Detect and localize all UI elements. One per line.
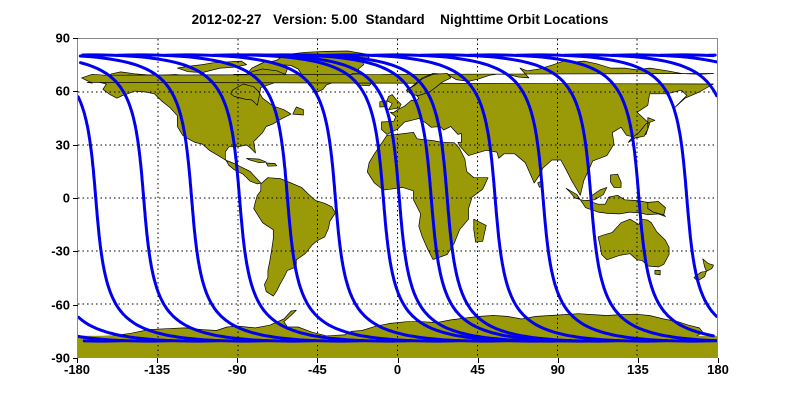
y-tick-mark <box>73 198 78 199</box>
x-tick-mark <box>478 358 479 363</box>
x-tick-label: 135 <box>627 362 649 377</box>
x-tick-label: -180 <box>64 362 90 377</box>
map-plot-area <box>77 38 718 358</box>
x-tick-mark <box>558 358 559 363</box>
orbit-locations-figure: 2012-02-27 Version: 5.00 Standard Nightt… <box>0 0 800 400</box>
landmass-tasmania <box>655 270 660 275</box>
landmass-madagascar <box>474 219 486 242</box>
x-tick-label: -45 <box>308 362 327 377</box>
landmass-newfoundland <box>293 107 304 115</box>
x-tick-mark <box>638 358 639 363</box>
x-tick-label: -135 <box>144 362 170 377</box>
landmass-australia <box>598 219 669 267</box>
x-tick-label: -90 <box>228 362 247 377</box>
x-tick-label: 0 <box>394 362 401 377</box>
landmass-nz1 <box>703 259 714 271</box>
landmass-cuba <box>247 158 267 162</box>
landmass-philippines <box>611 174 622 187</box>
landmass-southAmerica <box>254 178 336 296</box>
y-tick-mark <box>73 251 78 252</box>
y-tick-mark <box>73 38 78 39</box>
y-tick-label: 0 <box>63 191 70 206</box>
y-tick-label: -30 <box>51 244 70 259</box>
orbit-track <box>661 55 714 56</box>
x-tick-label: 45 <box>470 362 484 377</box>
landmass-britain <box>387 95 401 110</box>
y-tick-label: -60 <box>51 297 70 312</box>
y-tick-mark <box>73 145 78 146</box>
y-tick-label: 60 <box>56 84 70 99</box>
y-tick-label: 30 <box>56 137 70 152</box>
x-tick-label: 180 <box>707 362 729 377</box>
x-tick-mark <box>718 358 719 363</box>
page-title: 2012-02-27 Version: 5.00 Standard Nightt… <box>0 12 800 27</box>
x-tick-mark <box>317 358 318 363</box>
y-tick-mark <box>73 91 78 92</box>
x-tick-mark <box>398 358 399 363</box>
x-tick-mark <box>77 358 78 363</box>
y-tick-mark <box>73 305 78 306</box>
landmass-hispaniola <box>266 163 277 166</box>
world-map-svg <box>78 39 717 357</box>
x-tick-mark <box>237 358 238 363</box>
y-tick-label: 90 <box>56 31 70 46</box>
x-tick-mark <box>157 358 158 363</box>
x-tick-label: 90 <box>551 362 565 377</box>
